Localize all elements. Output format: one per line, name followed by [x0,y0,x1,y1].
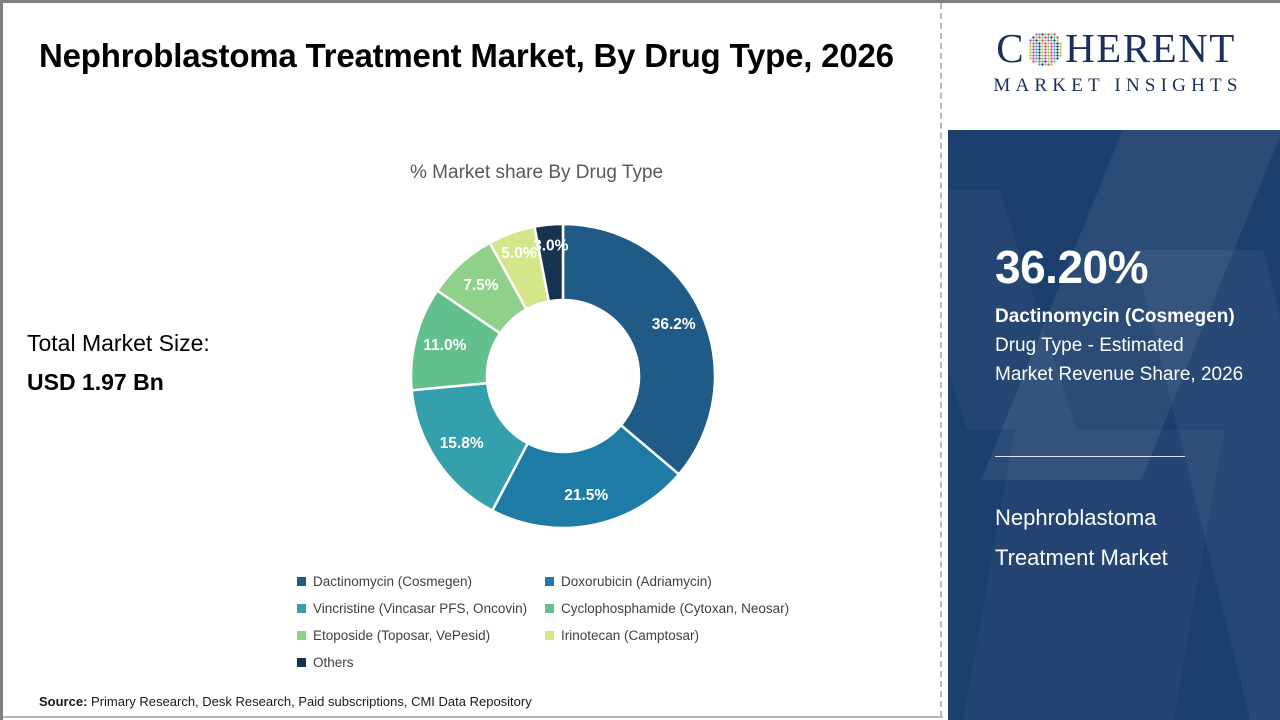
logo-dot [1047,51,1049,53]
donut-slice-label: 15.8% [440,435,484,452]
logo-dot [1056,48,1058,50]
logo-dot [1032,57,1034,59]
logo-dot [1044,36,1046,38]
legend-item[interactable]: Irinotecan (Camptosar) [545,622,885,649]
logo-dot [1038,45,1040,47]
logo-dot [1035,42,1037,44]
logo-dot [1035,54,1037,56]
logo-dot [1053,60,1055,62]
logo-dot [1035,39,1037,41]
brand-wordmark-part1: C [996,26,1025,70]
legend-label: Dactinomycin (Cosmegen) [313,575,472,589]
legend-label: Irinotecan (Camptosar) [561,629,699,643]
legend-swatch-icon [297,631,306,640]
brand-wordmark: C HERENT [966,25,1266,71]
logo-dot [1044,51,1046,53]
logo-dot [1059,42,1061,44]
logo-dot [1029,39,1031,41]
logo-dot [1032,54,1034,56]
logo-dot [1047,36,1049,38]
donut-slice-label: 36.2% [652,316,696,333]
frame-bottom-rule [3,716,943,718]
logo-dot [1035,57,1037,59]
source-text: Primary Research, Desk Research, Paid su… [87,694,531,709]
logo-dot [1047,39,1049,41]
infographic-page: Nephroblastoma Treatment Market, By Drug… [0,0,1280,720]
logo-dot [1050,60,1052,62]
donut-slice [563,224,715,474]
logo-dot [1038,54,1040,56]
logo-dot [1047,63,1049,65]
legend-label: Doxorubicin (Adriamycin) [561,575,712,589]
logo-dot [1047,45,1049,47]
logo-dot [1035,45,1037,47]
logo-dot [1041,42,1043,44]
donut-chart: 36.2%21.5%15.8%11.0%7.5%5.0%3.0% [405,218,721,534]
vertical-dashed-divider [940,3,942,717]
logo-dot [1038,36,1040,38]
legend-label: Etoposide (Toposar, VePesid) [313,629,490,643]
stat-description-rest: Drug Type - Estimated Market Revenue Sha… [995,335,1243,385]
logo-dot [1047,57,1049,59]
logo-dot [1041,57,1043,59]
logo-dot [1053,39,1055,41]
logo-dot [1038,33,1040,35]
logo-dot [1041,45,1043,47]
logo-dot [1038,42,1040,44]
source-line: Source: Primary Research, Desk Research,… [39,694,532,709]
legend-swatch-icon [297,658,306,667]
logo-dot [1038,39,1040,41]
legend-item[interactable]: Others [297,649,545,676]
logo-dot [1035,48,1037,50]
donut-slice-label: 21.5% [564,487,608,504]
brand-logo-inner: C HERENT MARKET INSIGHTS [966,25,1266,97]
logo-dot [1059,48,1061,50]
logo-dot [1032,39,1034,41]
donut-slice-label: 3.0% [533,238,569,255]
logo-dot [1053,45,1055,47]
logo-dot [1059,45,1061,47]
logo-dot [1044,42,1046,44]
logo-dot [1050,48,1052,50]
logo-dot [1044,39,1046,41]
logo-dot [1056,45,1058,47]
total-market-size-value: USD 1.97 Bn [27,363,317,402]
logo-dot [1047,33,1049,35]
logo-dot [1032,60,1034,62]
logo-dot [1032,45,1034,47]
legend-row: Vincristine (Vincasar PFS, Oncovin)Cyclo… [297,595,897,622]
panel-stat-block: 36.20% Dactinomycin (Cosmegen) Drug Type… [995,240,1245,389]
logo-dot [1041,48,1043,50]
logo-dot [1056,57,1058,59]
logo-dot [1041,51,1043,53]
logo-dot [1029,45,1031,47]
logo-dot [1032,48,1034,50]
logo-dot [1056,36,1058,38]
legend-row: Others [297,649,897,676]
source-label: Source: [39,694,87,709]
logo-dot [1044,33,1046,35]
legend-swatch-icon [297,577,306,586]
logo-dot [1050,42,1052,44]
legend-row: Dactinomycin (Cosmegen)Doxorubicin (Adri… [297,568,897,595]
logo-dot [1053,51,1055,53]
logo-dot [1047,60,1049,62]
logo-dot [1047,48,1049,50]
logo-dot [1038,48,1040,50]
legend-item[interactable]: Vincristine (Vincasar PFS, Oncovin) [297,595,545,622]
logo-dot [1041,36,1043,38]
stat-value: 36.20% [995,240,1245,294]
brand-subtitle: MARKET INSIGHTS [966,75,1266,97]
logo-dot [1050,45,1052,47]
logo-dot [1041,60,1043,62]
logo-dot [1029,54,1031,56]
donut-chart-svg: 36.2%21.5%15.8%11.0%7.5%5.0%3.0% [405,218,721,534]
total-market-size-label: Total Market Size: [27,324,317,363]
logo-dot [1050,33,1052,35]
logo-dot [1059,54,1061,56]
logo-dot [1029,57,1031,59]
donut-slice-label: 5.0% [501,245,537,262]
chart-legend: Dactinomycin (Cosmegen)Doxorubicin (Adri… [297,568,897,676]
logo-dot [1053,48,1055,50]
legend-swatch-icon [545,604,554,613]
legend-item[interactable]: Etoposide (Toposar, VePesid) [297,622,545,649]
logo-dot [1056,51,1058,53]
logo-dot [1041,39,1043,41]
legend-item[interactable]: Doxorubicin (Adriamycin) [545,568,885,595]
logo-dot [1050,63,1052,65]
stat-description-highlight: Dactinomycin (Cosmegen) [995,306,1235,327]
coherent-dot-circle-icon [1026,30,1064,68]
legend-swatch-icon [545,631,554,640]
logo-dot [1038,60,1040,62]
legend-label: Others [313,656,354,670]
legend-swatch-icon [545,577,554,586]
highlight-panel: 36.20% Dactinomycin (Cosmegen) Drug Type… [948,130,1280,720]
logo-dot [1044,54,1046,56]
logo-dot [1038,57,1040,59]
logo-dot [1032,51,1034,53]
brand-logo: C HERENT MARKET INSIGHTS [948,3,1280,130]
logo-dot [1053,57,1055,59]
donut-slice-group [411,224,715,528]
logo-dot [1044,45,1046,47]
logo-dot [1050,36,1052,38]
logo-dot [1053,42,1055,44]
logo-dot [1056,42,1058,44]
logo-dot [1041,63,1043,65]
logo-dot [1041,33,1043,35]
page-title: Nephroblastoma Treatment Market, By Drug… [39,31,899,81]
legend-row: Etoposide (Toposar, VePesid)Irinotecan (… [297,622,897,649]
logo-dot [1050,57,1052,59]
logo-dot [1038,63,1040,65]
logo-dot [1035,60,1037,62]
logo-dot [1050,39,1052,41]
logo-dot [1047,42,1049,44]
logo-dot [1044,57,1046,59]
logo-dot [1035,51,1037,53]
logo-dot [1032,42,1034,44]
logo-dot [1050,51,1052,53]
logo-dot [1029,48,1031,50]
logo-dot [1059,51,1061,53]
legend-label: Vincristine (Vincasar PFS, Oncovin) [313,602,527,616]
logo-dot [1044,48,1046,50]
legend-item[interactable]: Dactinomycin (Cosmegen) [297,568,545,595]
logo-dot [1053,54,1055,56]
panel-market-name: Nephroblastoma Treatment Market [995,498,1255,578]
stat-description: Dactinomycin (Cosmegen) Drug Type - Esti… [995,302,1245,389]
logo-dot [1035,36,1037,38]
logo-dot [1053,36,1055,38]
logo-dot [1056,54,1058,56]
logo-dot [1029,42,1031,44]
logo-dot [1050,54,1052,56]
legend-label: Cyclophosphamide (Cytoxan, Neosar) [561,602,789,616]
frame-left-border [0,0,3,720]
logo-dot [1032,36,1034,38]
donut-slice-label: 11.0% [423,337,466,354]
chart-caption: % Market share By Drug Type [410,160,830,186]
logo-dot [1029,51,1031,53]
total-market-size: Total Market Size: USD 1.97 Bn [27,324,317,402]
legend-item[interactable]: Cyclophosphamide (Cytoxan, Neosar) [545,595,885,622]
dot-circle-svg [1026,30,1064,68]
logo-dot [1044,60,1046,62]
panel-divider-rule [995,456,1185,457]
logo-dot [1041,54,1043,56]
legend-swatch-icon [297,604,306,613]
logo-dot [1056,39,1058,41]
logo-dot [1038,51,1040,53]
donut-slice-label: 7.5% [463,277,499,294]
logo-dot [1044,63,1046,65]
brand-wordmark-part2: HERENT [1065,26,1236,70]
logo-dot [1053,33,1055,35]
logo-dot [1047,54,1049,56]
logo-dot [1035,33,1037,35]
